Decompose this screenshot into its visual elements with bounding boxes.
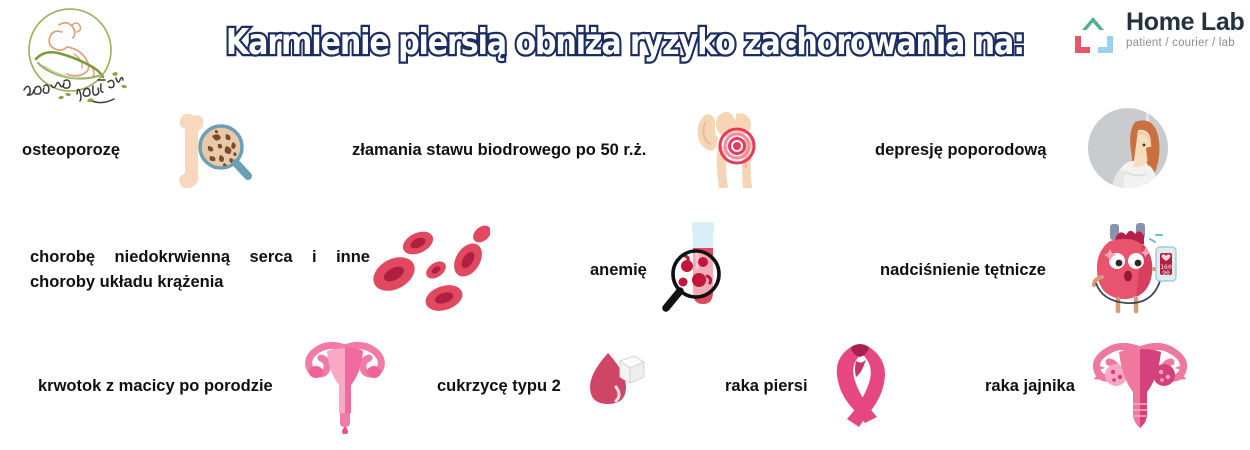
list-item-ischemic-heart-disease: chorobę niedokrwienną serca i inne choro…	[30, 215, 520, 325]
list-item-anemia: anemię	[590, 215, 750, 325]
heart-blood-pressure-icon: 160 90	[1080, 219, 1178, 322]
blood-test-tube-magnifier-icon	[655, 218, 737, 323]
item-label: raka piersi	[725, 374, 825, 399]
uterus-ovaries-icon	[1085, 334, 1195, 439]
page-title: Karmienie piersią obniża ryzyko zachorow…	[44, 22, 1207, 63]
list-item-type-2-diabetes: cukrzycę typu 2	[437, 330, 652, 442]
item-label: nadciśnienie tętnicze	[880, 258, 1080, 283]
list-item-ovarian-cancer: raka jajnika	[985, 330, 1225, 442]
uterus-bleeding-icon	[302, 334, 388, 439]
items-row-1: osteoporozę	[0, 100, 1250, 200]
items-row-3: krwotok z macicy po porodzie cukrzycę ty…	[0, 330, 1250, 442]
item-label: anemię	[590, 258, 655, 283]
item-label: osteoporozę	[22, 138, 172, 163]
hip-fracture-icon	[692, 106, 758, 195]
red-blood-cells-icon	[370, 222, 490, 319]
partner-logo: Home Lab patient / courier / lab	[1068, 8, 1238, 60]
partner-logo-title: Home Lab	[1126, 9, 1244, 36]
item-label: cukrzycę typu 2	[437, 374, 582, 399]
list-item-breast-cancer: raka piersi	[725, 330, 900, 442]
list-item-osteoporosis: osteoporozę	[22, 100, 292, 200]
item-label: złamania stawu biodrowego po 50 r.ż.	[352, 138, 692, 163]
list-item-postpartum-depression: depresję poporodową	[875, 100, 1205, 200]
item-label: chorobę niedokrwienną serca i inne choro…	[30, 245, 370, 295]
pink-ribbon-icon	[825, 333, 895, 440]
list-item-hip-fracture: złamania stawu biodrowego po 50 r.ż.	[352, 100, 762, 200]
list-item-postpartum-hemorrhage: krwotok z macicy po porodzie	[38, 330, 388, 442]
svg-text:90: 90	[1162, 269, 1170, 277]
postpartum-depression-icon	[1080, 100, 1176, 201]
bone-magnifier-icon	[172, 108, 256, 193]
partner-logo-subtitle: patient / courier / lab	[1126, 36, 1244, 50]
home-lab-mark-icon	[1068, 10, 1120, 56]
item-label: krwotok z macicy po porodzie	[38, 374, 302, 399]
blood-drop-sugar-cube-icon	[582, 349, 646, 424]
items-row-2: chorobę niedokrwienną serca i inne choro…	[0, 215, 1250, 325]
item-label: depresję poporodową	[875, 138, 1080, 163]
list-item-hypertension: nadciśnienie tętnicze	[880, 215, 1200, 325]
item-label: raka jajnika	[985, 374, 1085, 399]
